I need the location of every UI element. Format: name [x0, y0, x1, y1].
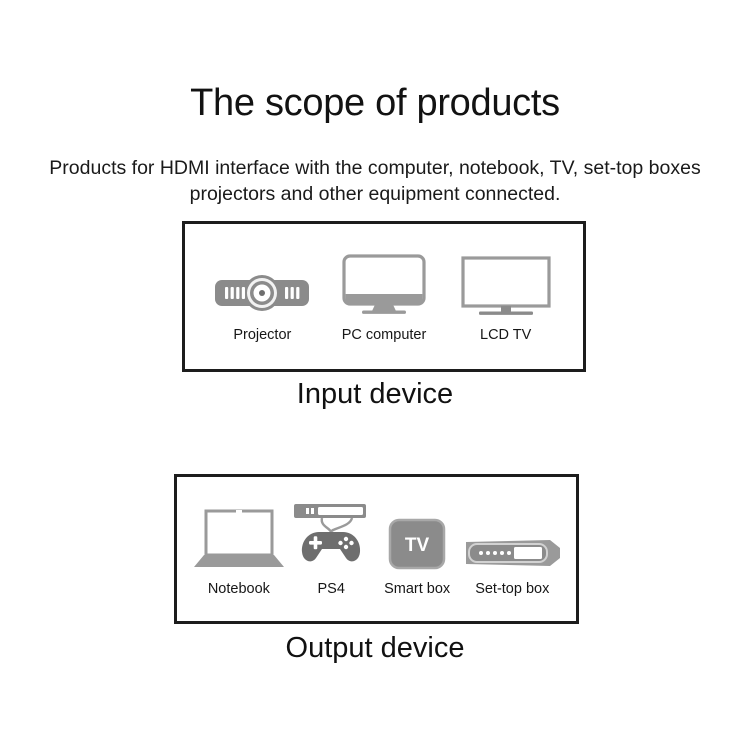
smart-tv-box-icon: TV — [388, 518, 446, 570]
device-label-set-top-box: Set-top box — [475, 581, 549, 597]
device-label-notebook: Notebook — [208, 581, 270, 597]
device-item-smart-box[interactable]: TV Smart box — [374, 518, 461, 597]
input-device-box: Projector PC computer — [182, 221, 586, 372]
page-title: The scope of products — [0, 82, 750, 125]
device-item-pc-computer[interactable]: PC computer — [324, 254, 445, 343]
output-device-caption: Output device — [0, 632, 750, 665]
device-label-lcd-tv: LCD TV — [480, 327, 531, 343]
device-label-projector: Projector — [233, 327, 291, 343]
input-device-row: Projector PC computer — [185, 224, 583, 369]
laptop-icon — [193, 508, 285, 570]
projector-icon — [213, 268, 311, 316]
svg-text:TV: TV — [405, 535, 430, 556]
device-label-ps4: PS4 — [318, 581, 345, 597]
page-subtitle: Products for HDMI interface with the com… — [12, 155, 738, 207]
device-label-smart-box: Smart box — [384, 581, 450, 597]
input-device-caption: Input device — [0, 378, 750, 411]
device-item-set-top-box[interactable]: Set-top box — [461, 536, 564, 597]
lcd-tv-icon — [461, 256, 551, 316]
set-top-box-icon — [462, 536, 562, 570]
output-device-box: Notebook — [174, 474, 579, 624]
device-item-notebook[interactable]: Notebook — [189, 508, 289, 597]
device-item-lcd-tv[interactable]: LCD TV — [444, 256, 567, 343]
device-label-pc-computer: PC computer — [342, 327, 427, 343]
device-item-projector[interactable]: Projector — [201, 268, 324, 343]
device-item-ps4[interactable]: PS4 — [289, 502, 374, 597]
output-device-row: Notebook — [177, 477, 576, 621]
game-console-gamepad-icon — [292, 502, 370, 570]
desktop-monitor-icon — [342, 254, 426, 316]
